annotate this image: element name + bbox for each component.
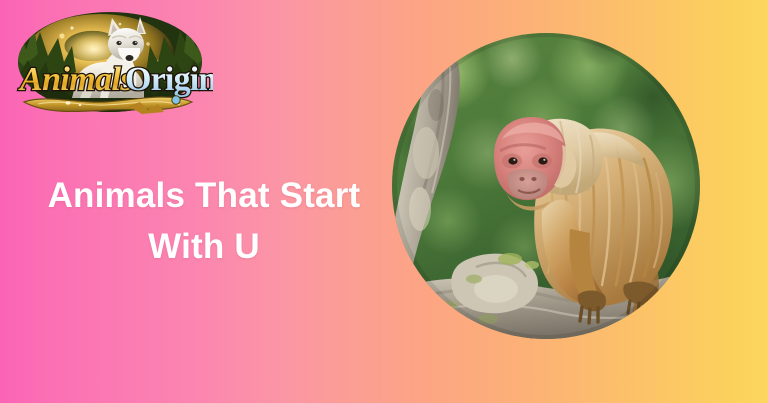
monkey-eye-right (538, 157, 547, 164)
logo-wordmark: Animals Origin (18, 61, 213, 98)
monkey-eye-left (508, 157, 517, 164)
page-title-line-2: With U (148, 227, 260, 266)
logo-text-animals: Animals (18, 61, 133, 98)
animals-origin-logo-icon: Animals Origin (8, 6, 213, 124)
blog-header-banner: Animals Origin Animals That Start With U (0, 0, 768, 403)
headline-block: Animals That Start With U (0, 170, 408, 272)
logo-text-origin: Origin (125, 61, 213, 98)
featured-image-circle (392, 33, 700, 339)
page-title: Animals That Start With U (0, 170, 408, 272)
site-logo[interactable]: Animals Origin (8, 6, 213, 124)
uakari-monkey-photo (392, 33, 700, 339)
page-title-line-1: Animals That Start (48, 176, 361, 215)
